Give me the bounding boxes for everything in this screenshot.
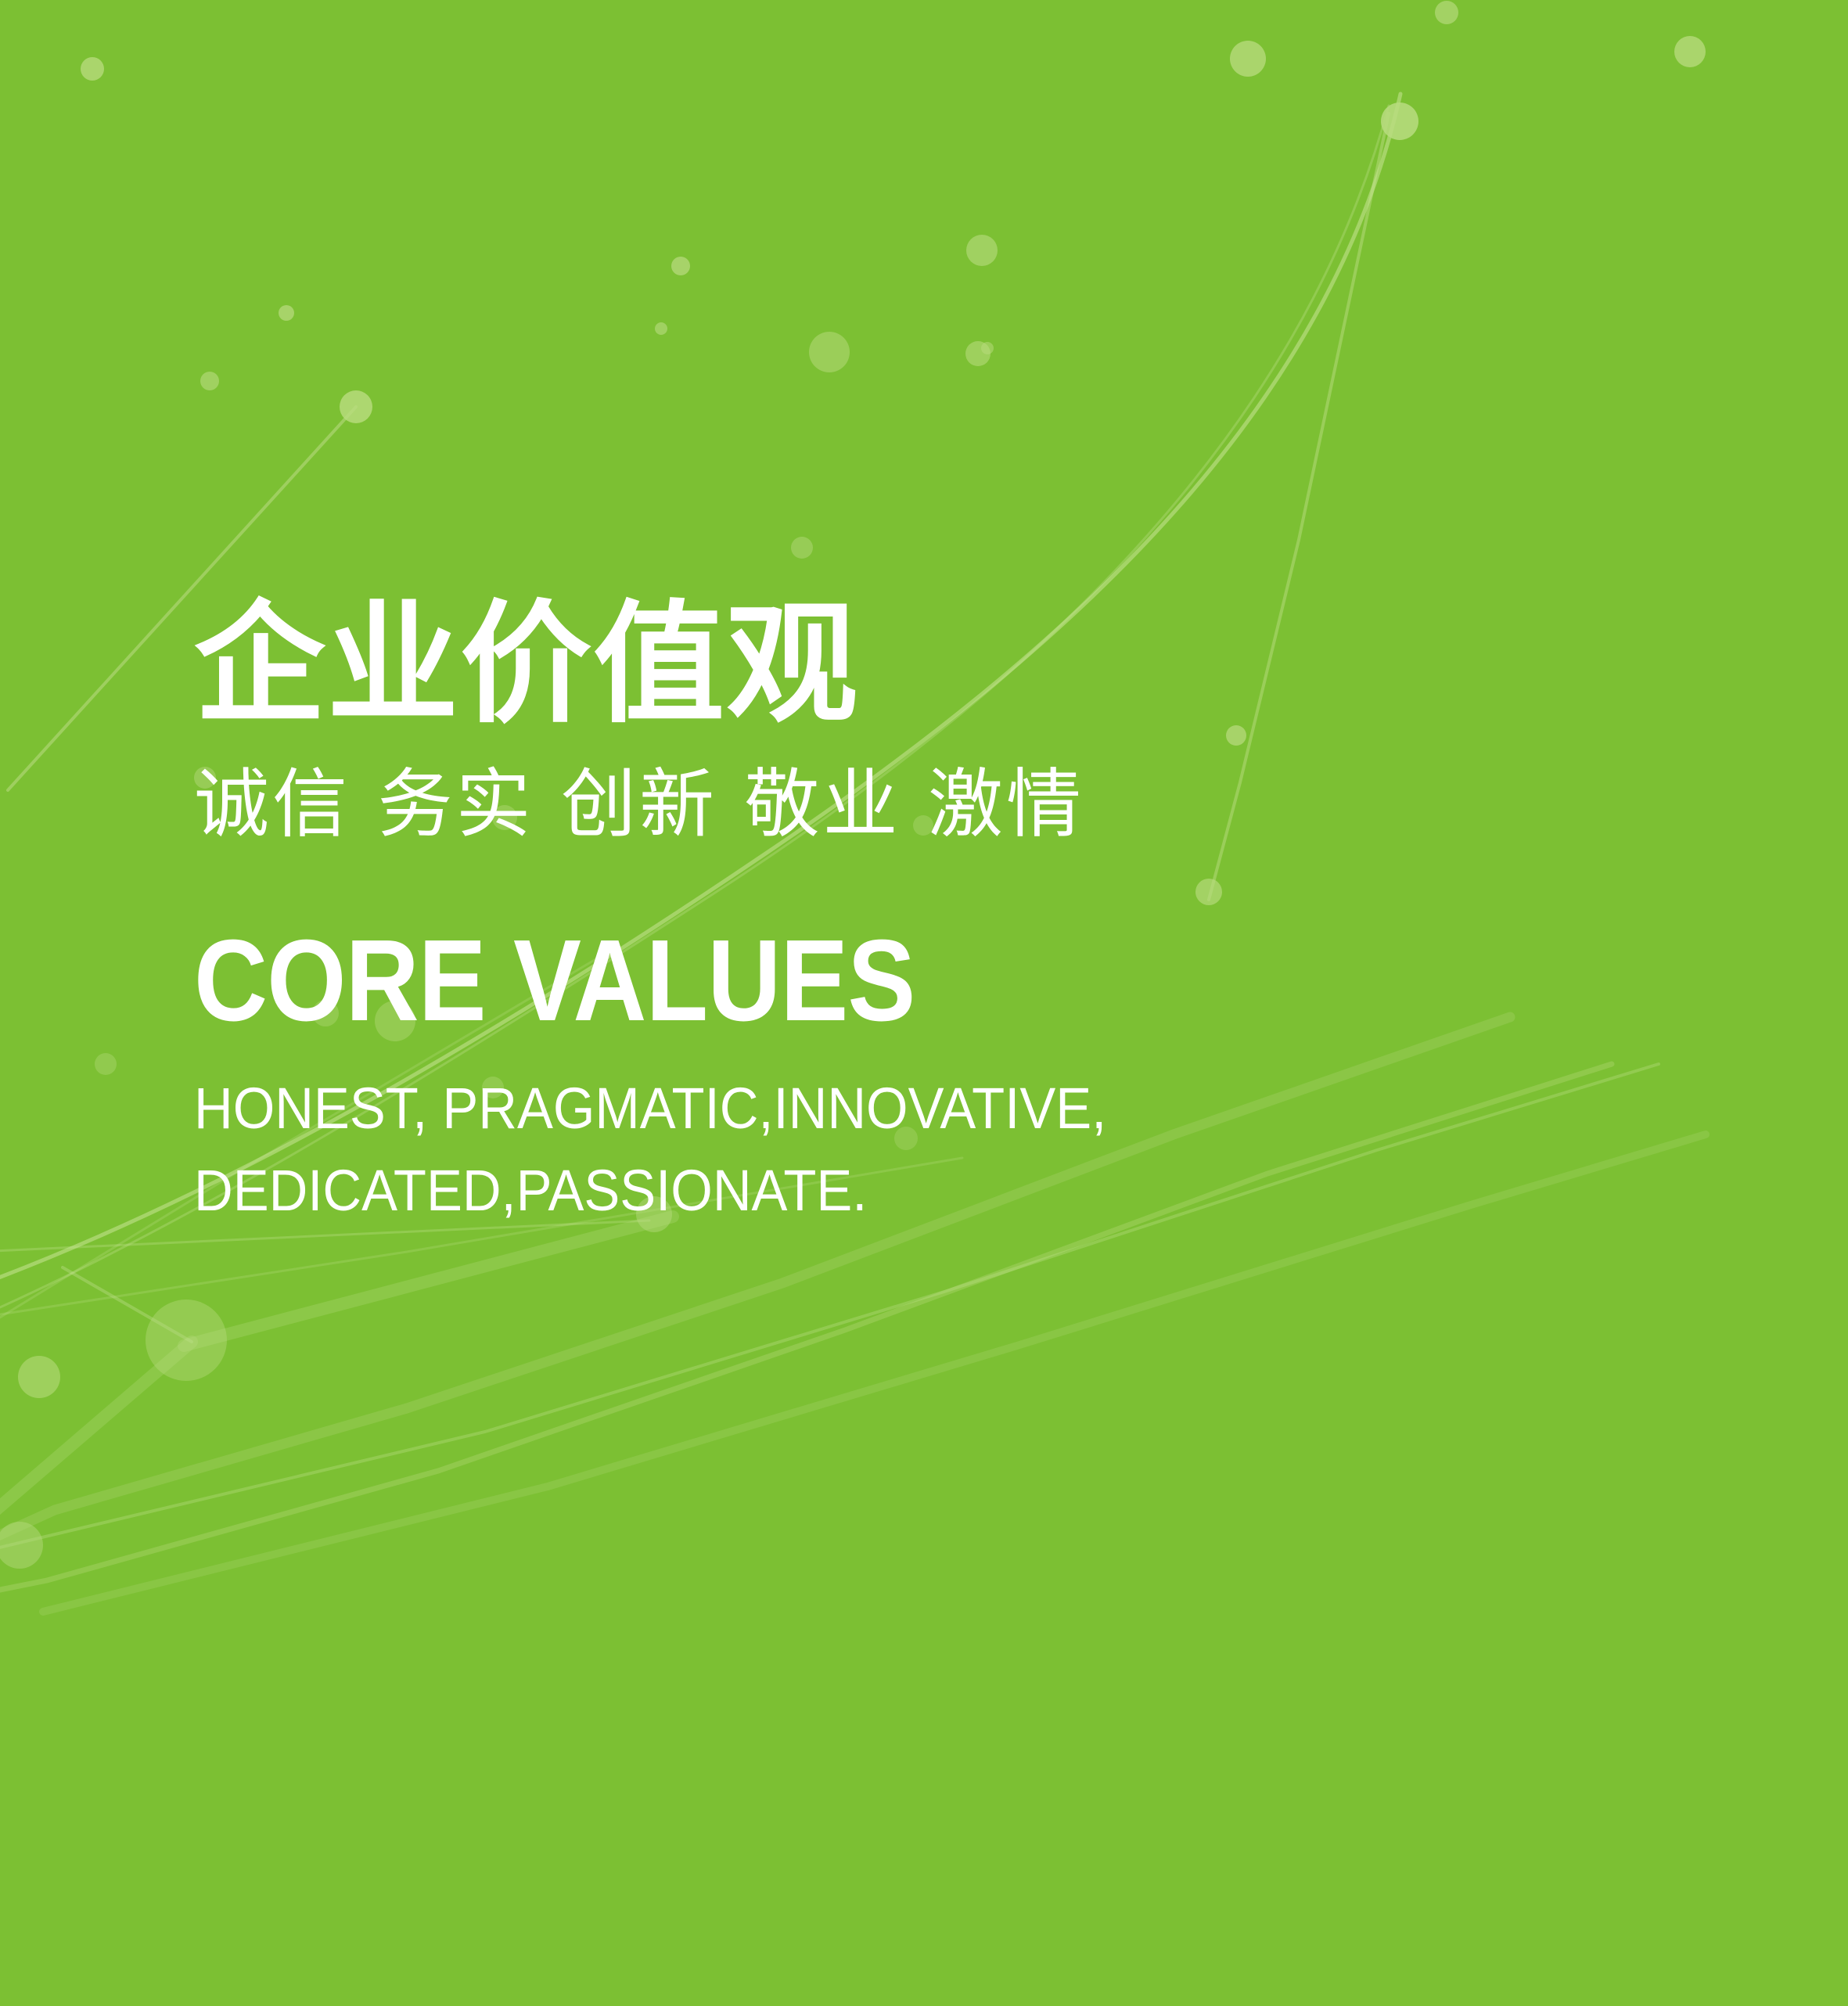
page-title-english: CORE VALUES: [194, 923, 1502, 1039]
page-title-chinese: 企业价值观: [194, 595, 1681, 734]
values-list-chinese: 诚信 务实 创新 敬业 激情: [194, 757, 1681, 851]
headline-block: 企业价值观 诚信 务实 创新 敬业 激情 CORE VALUES HONEST,…: [194, 595, 1681, 1231]
values-list-english: HONEST, PRAGMATIC,INNOVATIVE, DEDICATED,…: [194, 1067, 1577, 1231]
values-english-line-2: DEDICATED,PASSIONATE.: [194, 1149, 1577, 1231]
core-values-poster: 企业价值观 诚信 务实 创新 敬业 激情 CORE VALUES HONEST,…: [0, 0, 1848, 2006]
values-english-line-1: HONEST, PRAGMATIC,INNOVATIVE,: [194, 1067, 1577, 1149]
